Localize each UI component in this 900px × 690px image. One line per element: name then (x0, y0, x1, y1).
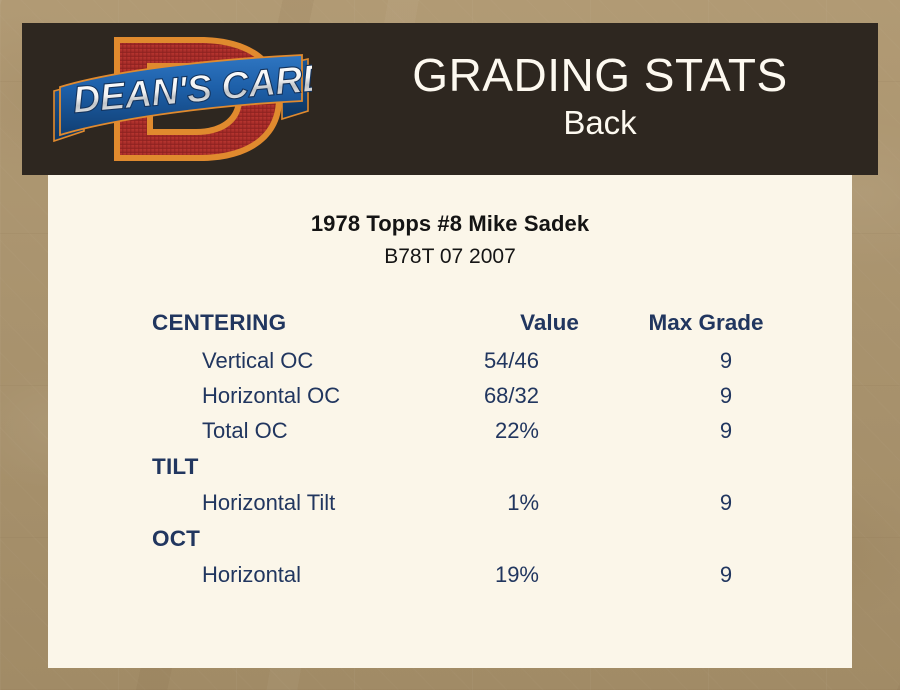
row-label: Vertical OC (152, 348, 313, 374)
content-panel: 1978 Topps #8 Mike Sadek B78T 07 2007 CE… (48, 175, 852, 668)
row-grade: 9 (657, 562, 795, 588)
column-header-max-grade: Max Grade (637, 303, 852, 343)
column-header-centering: CENTERING (48, 303, 462, 343)
row-label: Total OC (152, 418, 288, 444)
row-grade: 9 (657, 418, 795, 444)
table-row: Vertical OC 54/46 9 (48, 343, 852, 378)
row-label: Horizontal OC (152, 383, 340, 409)
row-grade: 9 (657, 348, 795, 374)
column-header-value: Value (462, 303, 637, 343)
table-row: Horizontal Tilt 1% 9 (48, 485, 852, 520)
deans-cards-logo[interactable]: DEAN'S CARDS (50, 25, 312, 173)
page-subtitle: Back (563, 102, 636, 143)
page-title: GRADING STATS (412, 51, 787, 100)
stats-table-body: CENTERING Value Max Grade Vertical OC 54… (48, 303, 852, 592)
row-label: Horizontal (152, 562, 301, 588)
row-value: 1% (462, 485, 637, 520)
row-grade: 9 (657, 490, 795, 516)
row-value: 54/46 (462, 343, 637, 378)
section-header-oct: OCT (48, 520, 852, 557)
row-value: 68/32 (462, 378, 637, 413)
header-band: DEAN'S CARDS GRADING STATS Back (22, 23, 878, 175)
table-row: Total OC 22% 9 (48, 413, 852, 448)
grading-stats-table: CENTERING Value Max Grade Vertical OC 54… (48, 303, 852, 592)
card-title: 1978 Topps #8 Mike Sadek (48, 211, 852, 237)
table-row: Horizontal OC 68/32 9 (48, 378, 852, 413)
section-label: TILT (152, 454, 199, 479)
card-subtitle: B78T 07 2007 (48, 245, 852, 269)
row-label: Horizontal Tilt (152, 490, 335, 516)
row-value: 22% (462, 413, 637, 448)
row-grade: 9 (657, 383, 795, 409)
section-label: OCT (152, 526, 200, 551)
section-header-tilt: TILT (48, 448, 852, 485)
table-row: Horizontal 19% 9 (48, 557, 852, 592)
header-title-block: GRADING STATS Back (322, 23, 878, 175)
table-header-row: CENTERING Value Max Grade (48, 303, 852, 343)
row-value: 19% (462, 557, 637, 592)
